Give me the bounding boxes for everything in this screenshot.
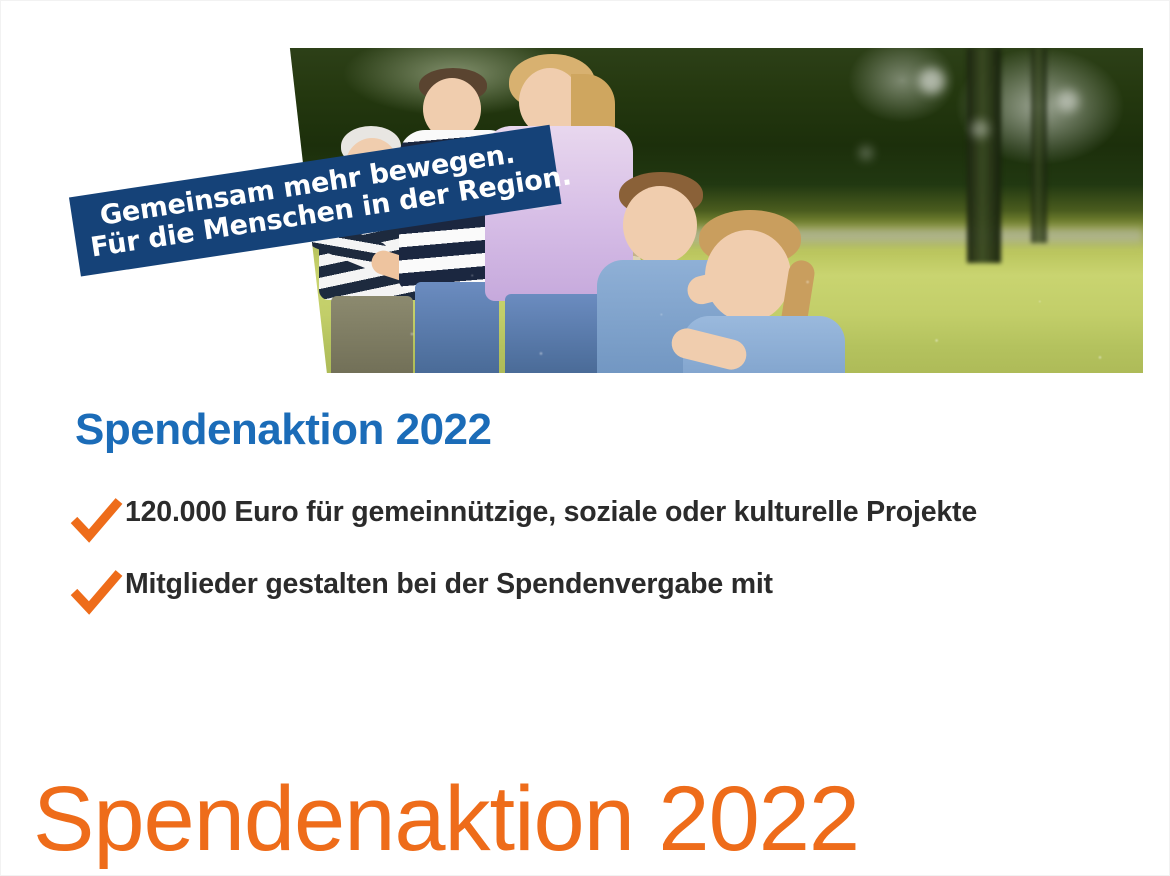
slide-canvas: Gemeinsam mehr bewegen. Für die Menschen…	[0, 0, 1170, 876]
list-item: Mitglieder gestalten bei der Spendenverg…	[69, 565, 1079, 615]
benefits-list: 120.000 Euro für gemeinnützige, soziale …	[69, 493, 1079, 637]
foreground-grass	[283, 243, 1143, 373]
check-icon	[69, 497, 125, 543]
list-item-label: Mitglieder gestalten bei der Spendenverg…	[125, 565, 1079, 603]
check-icon	[69, 569, 125, 615]
list-item-label: 120.000 Euro für gemeinnützige, soziale …	[125, 493, 1079, 531]
section-title: Spendenaktion 2022	[75, 406, 491, 454]
list-item: 120.000 Euro für gemeinnützige, soziale …	[69, 493, 1079, 543]
campaign-title: Spendenaktion 2022	[33, 773, 859, 865]
